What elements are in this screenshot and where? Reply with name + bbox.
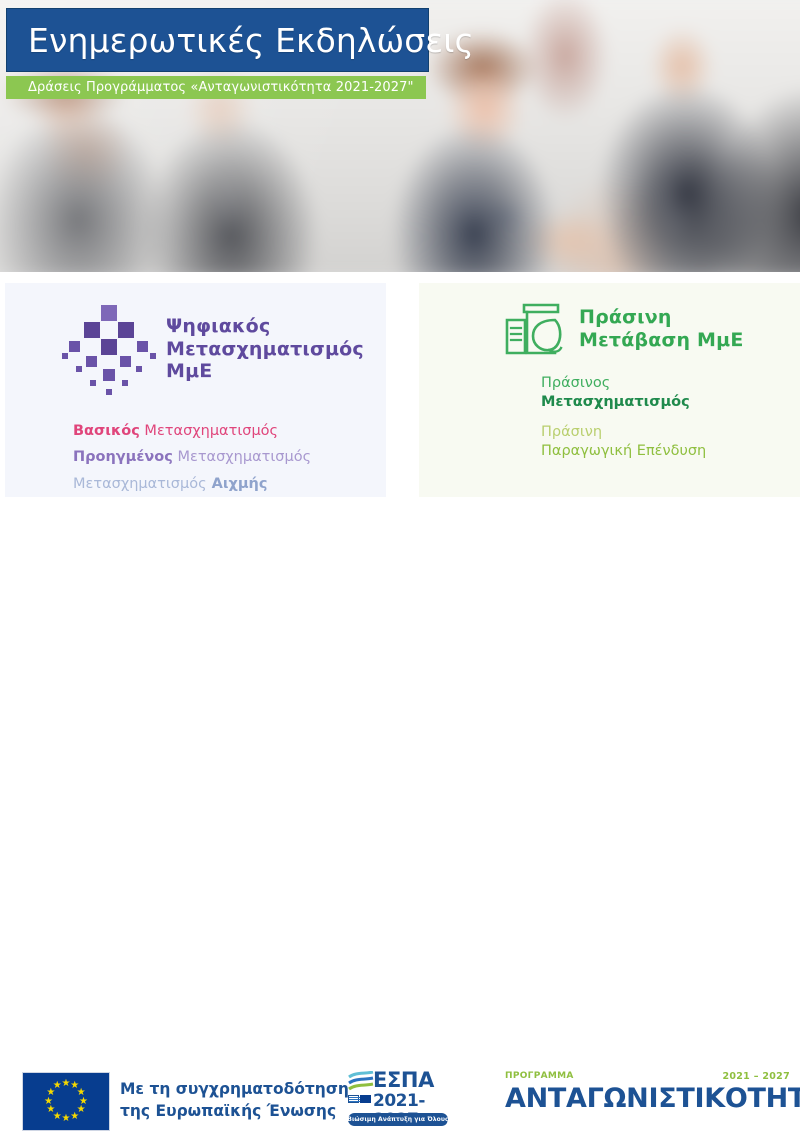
digital-item-2-bold: Προηγμένος	[73, 449, 173, 465]
list-item[interactable]: Βασικός Μετασχηματισμός	[73, 418, 386, 444]
banner-title-bar: Ενημερωτικές Εκδηλώσεις	[6, 8, 429, 72]
eu-star-icon: ★	[53, 1081, 62, 1090]
greek-flag-icon	[348, 1095, 359, 1103]
european-union-flag: ★★★★★★★★★★★★	[22, 1072, 110, 1131]
programme-label: ΠΡΟΓΡΑΜΜΑ	[505, 1071, 574, 1081]
hero-banner: Ενημερωτικές Εκδηλώσεις Δράσεις Προγράμμ…	[0, 0, 800, 272]
digital-item-2-rest: Μετασχηματισμός	[173, 449, 311, 465]
footer-logos: ★★★★★★★★★★★★ Με τη συγχρηματοδότηση της …	[0, 528, 800, 636]
green-item-1-line2: Μετασχηματισμός	[541, 393, 800, 412]
green-logo-title: Πράσινη Μετάβαση ΜμΕ	[579, 306, 744, 352]
programme-years: 2021 – 2027	[722, 1071, 790, 1082]
card-green-transition[interactable]: Πράσινη Μετάβαση ΜμΕ Πράσινος Μετασχηματ…	[419, 283, 800, 497]
espa-flag-pair	[348, 1095, 372, 1110]
green-action-list: Πράσινος Μετασχηματισμός Πράσινη Παραγωγ…	[541, 374, 800, 462]
digital-item-1-bold: Βασικός	[73, 423, 140, 439]
eu-star-icon: ★	[62, 1079, 71, 1088]
card-digital-transformation[interactable]: Ψηφιακός Μετασχηματισμός ΜμΕ Βασικός Μετ…	[5, 283, 386, 497]
green-logo-row: Πράσινη Μετάβαση ΜμΕ	[419, 283, 800, 355]
pixel-mosaic-icon	[62, 303, 156, 395]
digital-logo-line3: ΜμΕ	[166, 360, 364, 382]
espa-tagline: Βιώσιμη Ανάπτυξη για Όλους	[348, 1113, 448, 1126]
list-item[interactable]: Προηγμένος Μετασχηματισμός	[73, 444, 386, 470]
green-item-1-line1: Πράσινος	[541, 374, 800, 393]
digital-item-3-rest: Αιχμής	[207, 476, 268, 492]
eu-text-line1: Με τη συγχρηματοδότηση	[120, 1078, 349, 1100]
list-item[interactable]: Πράσινος Μετασχηματισμός	[541, 374, 800, 412]
factory-leaf-icon	[505, 303, 567, 355]
green-item-2-line2: Παραγωγική Επένδυση	[541, 442, 800, 461]
digital-logo-title: Ψηφιακός Μετασχηματισμός ΜμΕ	[166, 315, 364, 382]
espa-logo[interactable]: ΕΣΠΑ 2021-2027 Βιώσιμη Ανάπτυξη για Όλου…	[348, 1068, 450, 1130]
green-logo-line2: Μετάβαση ΜμΕ	[579, 329, 744, 352]
list-item[interactable]: Πράσινη Παραγωγική Επένδυση	[541, 423, 800, 461]
espa-wave-icon	[348, 1071, 374, 1092]
list-item[interactable]: Μετασχηματισμός Αιχμής	[73, 471, 386, 497]
eu-star-icon: ★	[46, 1105, 55, 1114]
espa-wordmark: ΕΣΠΑ	[373, 1068, 434, 1093]
eu-text-line2: της Ευρωπαϊκής Ένωσης	[120, 1100, 349, 1122]
eu-star-icon: ★	[77, 1088, 86, 1097]
eu-star-icon: ★	[44, 1097, 53, 1106]
digital-item-1-rest: Μετασχηματισμός	[140, 423, 278, 439]
green-logo-line1: Πράσινη	[579, 306, 744, 329]
eu-star-icon: ★	[70, 1112, 79, 1121]
espa-top-row: ΕΣΠΑ	[348, 1068, 450, 1094]
eu-flag-mini-icon	[360, 1095, 371, 1103]
page-subtitle: Δράσεις Προγράμματος «Ανταγωνιστικότητα …	[6, 81, 414, 94]
eu-star-icon: ★	[62, 1114, 71, 1123]
digital-logo-row: Ψηφιακός Μετασχηματισμός ΜμΕ	[5, 283, 386, 395]
page-title: Ενημερωτικές Εκδηλώσεις	[7, 24, 474, 57]
programme-cards: Ψηφιακός Μετασχηματισμός ΜμΕ Βασικός Μετ…	[0, 283, 800, 497]
digital-logo-line2: Μετασχηματισμός	[166, 338, 364, 360]
eu-cofunding-text: Με τη συγχρηματοδότηση της Ευρωπαϊκής Έν…	[120, 1078, 349, 1122]
digital-logo-line1: Ψηφιακός	[166, 315, 364, 337]
green-item-2-line1: Πράσινη	[541, 423, 800, 442]
eu-star-icon: ★	[79, 1097, 88, 1106]
digital-item-3-bold: Μετασχηματισμός	[73, 476, 207, 492]
programme-logo[interactable]: ΠΡΟΓΡΑΜΜΑ 2021 – 2027 ΑΝΤΑΓΩΝΙΣΤΙΚΟΤΗΤΑ	[505, 1071, 790, 1125]
digital-action-list: Βασικός Μετασχηματισμός Προηγμένος Μετασ…	[73, 418, 386, 497]
banner-subtitle-bar: Δράσεις Προγράμματος «Ανταγωνιστικότητα …	[6, 76, 426, 99]
programme-name: ΑΝΤΑΓΩΝΙΣΤΙΚΟΤΗΤΑ	[505, 1083, 800, 1115]
